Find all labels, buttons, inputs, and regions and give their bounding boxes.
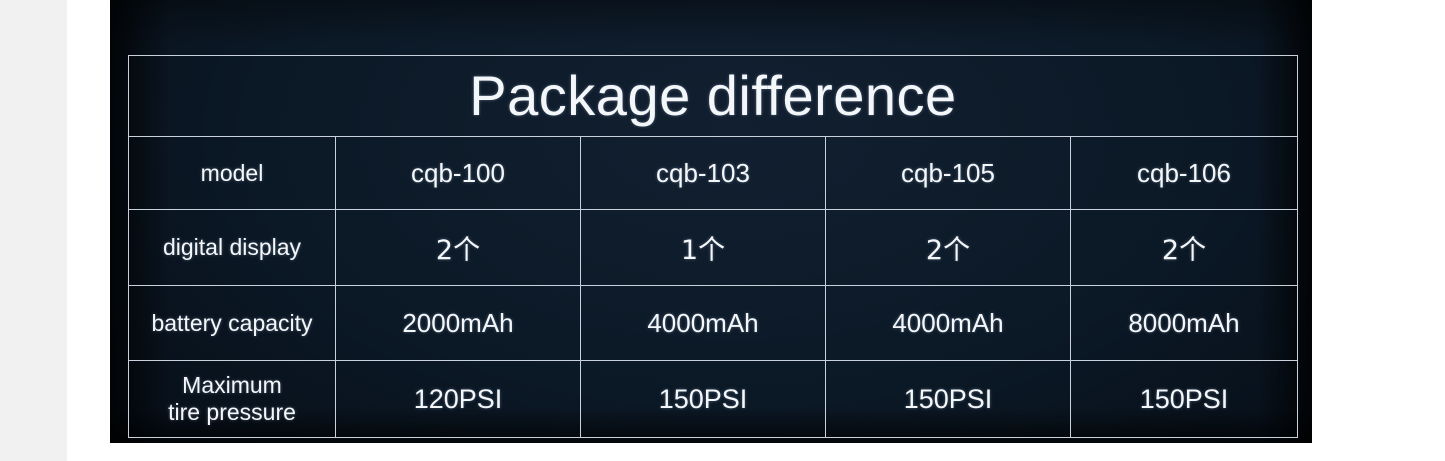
table-row: model cqb-100 cqb-103 cqb-105 cqb-106: [129, 137, 1298, 210]
cell-display-cqb105: 2个: [826, 210, 1071, 286]
cell-battery-cqb103: 4000mAh: [581, 286, 826, 361]
cell-battery-cqb100: 2000mAh: [336, 286, 581, 361]
row-header-battery-capacity: battery capacity: [129, 286, 336, 361]
cell-pressure-cqb100: 120PSI: [336, 361, 581, 438]
left-white-margin: [67, 0, 110, 461]
product-spec-slide: Package difference model cqb-100 cqb-103…: [110, 0, 1312, 443]
cell-display-cqb100: 2个: [336, 210, 581, 286]
cell-pressure-cqb105: 150PSI: [826, 361, 1071, 438]
cell-battery-cqb106: 8000mAh: [1071, 286, 1298, 361]
row-header-maximum-tire-pressure: Maximum tire pressure: [129, 361, 336, 438]
table-row: Maximum tire pressure 120PSI 150PSI 150P…: [129, 361, 1298, 438]
left-gray-margin: [0, 0, 67, 461]
table-row: digital display 2个 1个 2个 2个: [129, 210, 1298, 286]
package-difference-table: Package difference model cqb-100 cqb-103…: [128, 55, 1298, 438]
cell-model-cqb105: cqb-105: [826, 137, 1071, 210]
cell-pressure-cqb106: 150PSI: [1071, 361, 1298, 438]
cell-model-cqb106: cqb-106: [1071, 137, 1298, 210]
row-header-model: model: [129, 137, 336, 210]
cell-battery-cqb105: 4000mAh: [826, 286, 1071, 361]
cell-display-cqb106: 2个: [1071, 210, 1298, 286]
table-row: battery capacity 2000mAh 4000mAh 4000mAh…: [129, 286, 1298, 361]
table-title-row: Package difference: [129, 56, 1298, 137]
page-root: Package difference model cqb-100 cqb-103…: [0, 0, 1445, 461]
page-title: Package difference: [129, 56, 1298, 137]
cell-model-cqb103: cqb-103: [581, 137, 826, 210]
row-header-digital-display: digital display: [129, 210, 336, 286]
cell-model-cqb100: cqb-100: [336, 137, 581, 210]
cell-pressure-cqb103: 150PSI: [581, 361, 826, 438]
cell-display-cqb103: 1个: [581, 210, 826, 286]
